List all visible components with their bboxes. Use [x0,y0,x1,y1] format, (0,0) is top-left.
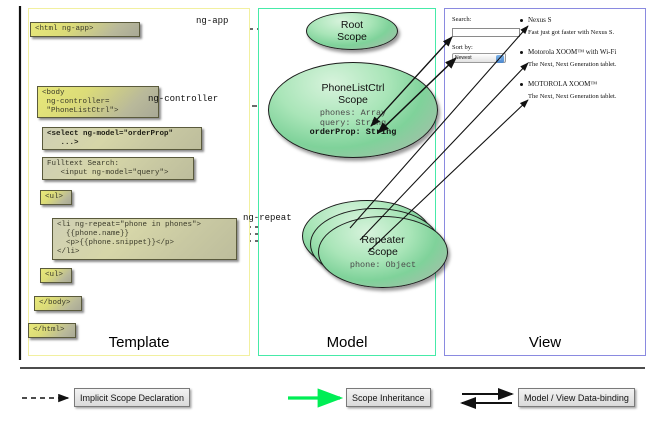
legend-arrow-layer [0,0,661,425]
diagram-canvas: Template Model View <html ng-app> <body … [0,0,661,425]
